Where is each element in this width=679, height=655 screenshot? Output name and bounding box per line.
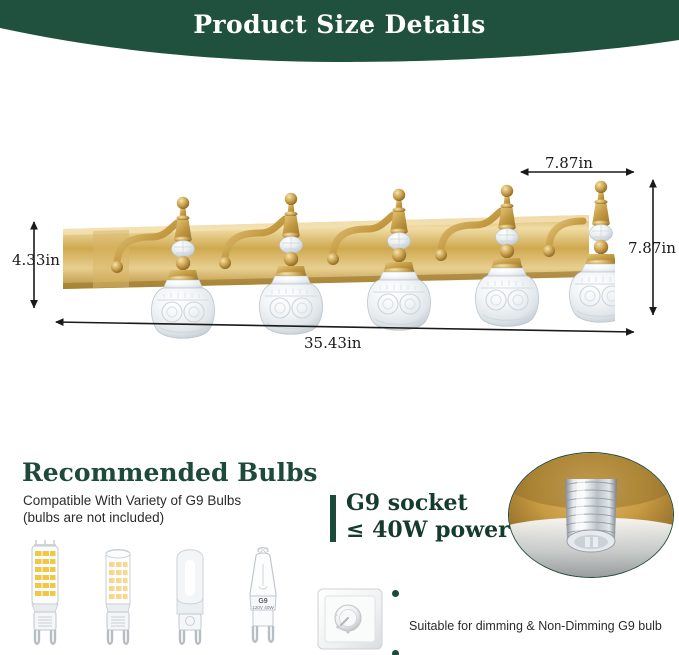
page-title: Product Size Details [0, 10, 679, 39]
g9-led-warm-white-bulb [87, 538, 149, 650]
bulb-image-row: G9 120V 40W [14, 538, 294, 650]
dimension-label-width-bottom: 35.43in [304, 334, 361, 352]
list-item: Fully dimmable when used with a dimmer b… [392, 646, 677, 655]
g9-led-yellow-chip-bulb [14, 538, 76, 650]
green-accent-bar [330, 495, 336, 542]
dimension-label-spacing-top: 7.87in [545, 154, 593, 172]
halogen-bulb-label: G9 [258, 598, 267, 605]
bulbs-and-socket-section: Recommended Bulbs Compatible With Variet… [0, 440, 679, 655]
recommended-bulbs-title: Recommended Bulbs [22, 458, 318, 487]
header-banner: Product Size Details [0, 0, 679, 62]
product-image-section: 4.33in 7.87in 7.87in 35.43in [0, 62, 679, 440]
g9-socket-heading: G9 socket ≤ 40W power [346, 490, 510, 544]
dimming-bullet-list: Suitable for dimming & Non-Dimming G9 bu… [392, 586, 677, 655]
bullet-text: Suitable for dimming & Non-Dimming G9 bu… [409, 619, 662, 633]
g9-clear-halogen-bulb: G9 120V 40W [232, 538, 294, 650]
rotary-dimmer-switch [314, 585, 386, 653]
dimension-label-height-left: 4.33in [12, 251, 60, 269]
product-size-details-infographic: Product Size Details [0, 0, 679, 655]
g9-socket-closeup-photo [508, 452, 674, 578]
dimension-arrows [0, 62, 679, 440]
dimension-label-depth-right: 7.87in [628, 239, 676, 257]
halogen-bulb-sublabel: 120V 40W [252, 605, 274, 610]
recommended-bulbs-subtitle: Compatible With Variety of G9 Bulbs (bul… [23, 492, 241, 526]
dimension-arrow-width-bottom [56, 322, 634, 332]
list-item: Suitable for dimming & Non-Dimming G9 bu… [392, 586, 677, 634]
bullet-dot-icon [392, 590, 399, 597]
g9-frosted-led-bulb [159, 538, 221, 650]
bullet-dot-icon [392, 650, 399, 655]
